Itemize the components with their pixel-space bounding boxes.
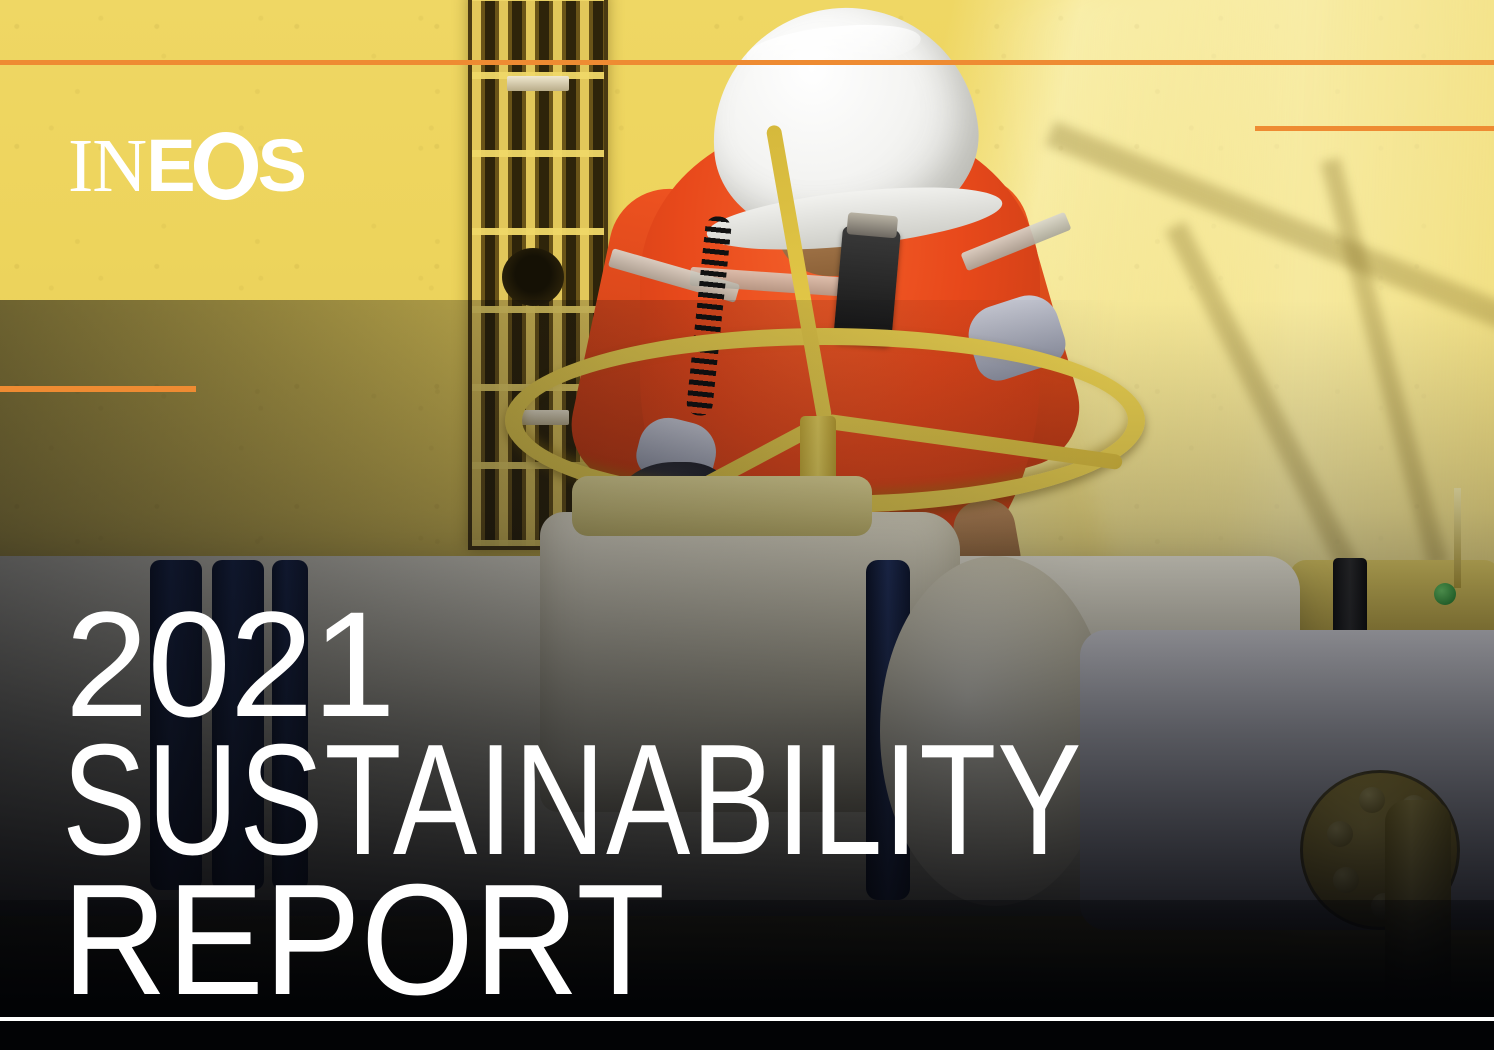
logo-text-in: IN	[68, 131, 146, 201]
ineos-logo: IN E S	[68, 128, 305, 204]
top-accent-rule	[0, 60, 1494, 65]
left-accent-rule	[0, 386, 196, 392]
logo-text-s: S	[258, 131, 305, 201]
report-title-line-1: SUSTAINABILITY	[62, 730, 1082, 870]
logo-text-e: E	[146, 131, 193, 201]
grating-opening	[502, 248, 564, 306]
right-accent-rule	[1255, 126, 1494, 131]
report-title-line-2: REPORT	[62, 870, 1235, 1010]
report-cover-page: IN E S 2021 SUSTAINABILITY REPORT	[0, 0, 1494, 1050]
white-hard-hat	[701, 0, 989, 251]
ineos-o-mark-icon	[192, 130, 260, 202]
report-year: 2021	[65, 598, 1337, 730]
cover-title-block: 2021 SUSTAINABILITY REPORT	[62, 598, 1337, 1010]
